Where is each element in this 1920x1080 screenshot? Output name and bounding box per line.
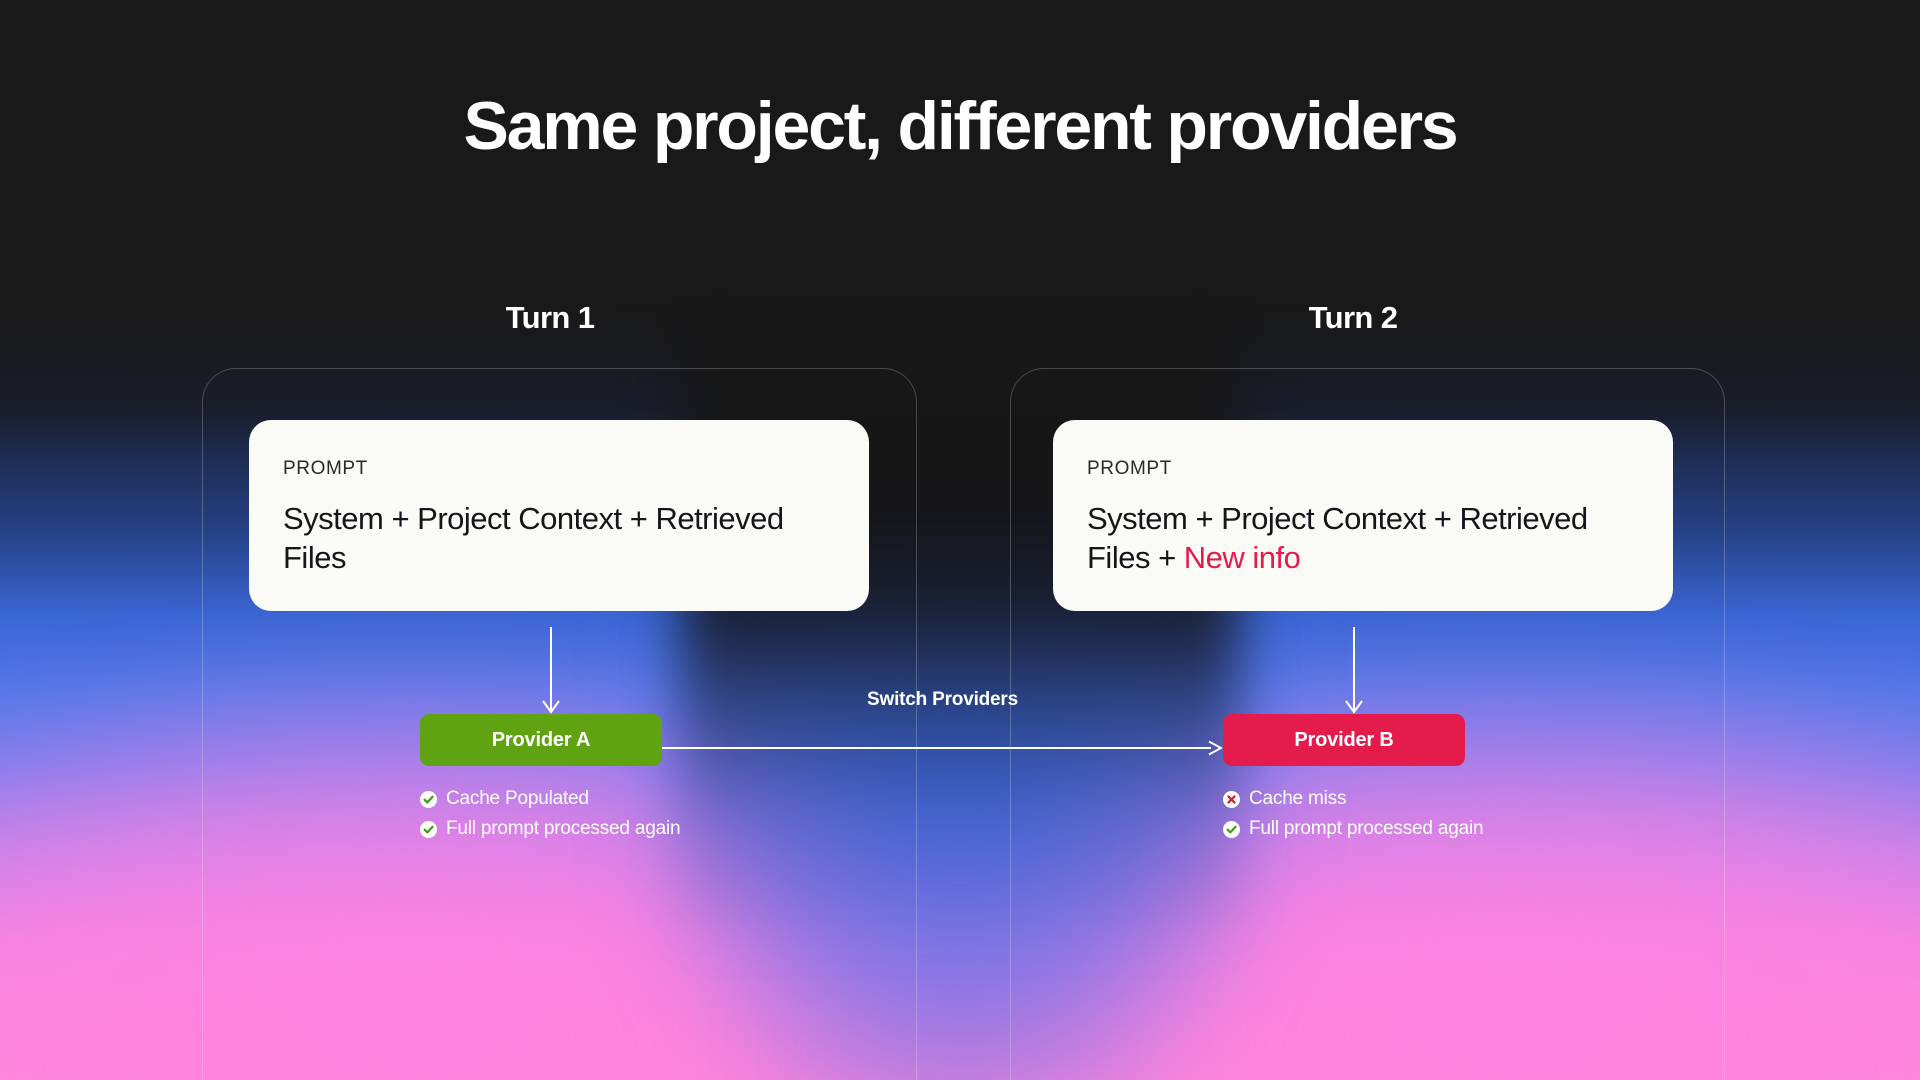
- status-label: Cache miss: [1249, 788, 1346, 810]
- turn-label-1: Turn 1: [400, 300, 700, 336]
- prompt-body-2: System + Project Context + Retrieved Fil…: [1087, 499, 1639, 577]
- switch-providers-label: Switch Providers: [662, 689, 1223, 711]
- check-circle-icon: [420, 821, 437, 838]
- status-row: Full prompt processed again: [1223, 818, 1483, 840]
- status-list-2: Cache miss Full prompt processed again: [1223, 788, 1483, 848]
- prompt-kicker-2: PROMPT: [1087, 458, 1639, 480]
- provider-b-label: Provider B: [1294, 729, 1393, 752]
- slide-canvas: Same project, different providers Turn 1…: [0, 0, 1920, 1080]
- prompt-kicker-1: PROMPT: [283, 458, 835, 480]
- provider-b-button[interactable]: Provider B: [1223, 714, 1465, 766]
- prompt-card-1: PROMPT System + Project Context + Retrie…: [249, 420, 869, 611]
- prompt-highlight-2: New info: [1184, 540, 1301, 575]
- status-list-1: Cache Populated Full prompt processed ag…: [420, 788, 680, 848]
- prompt-card-2: PROMPT System + Project Context + Retrie…: [1053, 420, 1673, 611]
- prompt-body-1: System + Project Context + Retrieved Fil…: [283, 499, 835, 577]
- status-label: Full prompt processed again: [446, 818, 680, 840]
- status-label: Full prompt processed again: [1249, 818, 1483, 840]
- provider-a-label: Provider A: [492, 729, 590, 752]
- switch-providers-arrow: [662, 740, 1223, 756]
- status-row: Cache Populated: [420, 788, 680, 810]
- status-row: Full prompt processed again: [420, 818, 680, 840]
- turn-label-2: Turn 2: [1203, 300, 1503, 336]
- provider-a-button[interactable]: Provider A: [420, 714, 662, 766]
- check-circle-icon: [1223, 821, 1240, 838]
- arrow-shaft: [662, 747, 1211, 749]
- check-circle-icon: [420, 791, 437, 808]
- status-label: Cache Populated: [446, 788, 589, 810]
- arrow-head-down-icon: [542, 700, 560, 714]
- page-title: Same project, different providers: [0, 92, 1920, 160]
- prompt-text-1: System + Project Context + Retrieved Fil…: [283, 501, 784, 575]
- flow-arrow-down-1: [540, 627, 562, 713]
- arrow-head-right-icon: [1208, 740, 1223, 756]
- arrow-head-down-icon: [1345, 700, 1363, 714]
- flow-arrow-down-2: [1343, 627, 1365, 713]
- prompt-text-2: System + Project Context + Retrieved Fil…: [1087, 501, 1588, 575]
- x-circle-icon: [1223, 791, 1240, 808]
- status-row: Cache miss: [1223, 788, 1483, 810]
